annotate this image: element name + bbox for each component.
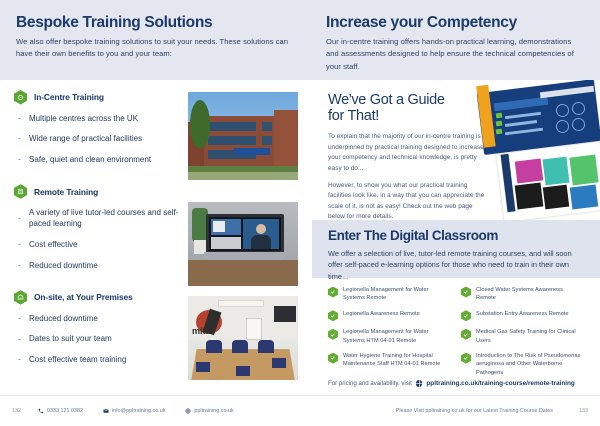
course-column-left: Legionella Management for Water Systems … (328, 286, 451, 384)
course-name: Substation Entry Awareness Remote (476, 310, 569, 318)
list-item: - Cost effective team training (16, 354, 181, 366)
page-number-right: 133 (579, 408, 588, 414)
list-item[interactable]: Legionella Management for Water Systems … (328, 328, 451, 345)
bespoke-body: We also offer bespoke training solutions… (16, 36, 294, 61)
list-item[interactable]: Medical Gas Safety Training for Clinical… (461, 328, 584, 345)
course-name: Closed Water Systems Awareness Remote (476, 286, 584, 303)
footer-website[interactable]: ppltraining.co.uk (185, 408, 233, 414)
course-name: Legionella Awareness Remote (343, 310, 420, 318)
pricing-note-link[interactable]: ppltraining.co.uk/training-course/remote… (426, 380, 574, 387)
email-text: info@ppltraining.co.uk (112, 408, 165, 414)
check-hex-icon (328, 353, 338, 364)
check-hex-icon (328, 287, 338, 298)
remote-course-list: Legionella Management for Water Systems … (312, 278, 600, 384)
guide-block: We've Got a Guide for That! To explain t… (312, 80, 600, 220)
dash-icon: - (16, 261, 23, 270)
list-item: - A variety of live tutor-led courses an… (16, 207, 181, 230)
footer-note: Please Visit ppltraining.co.uk for our L… (396, 408, 553, 414)
left-column: In-Centre Training - Multiple centres ac… (0, 80, 312, 395)
footer-email[interactable]: info@ppltraining.co.uk (103, 408, 165, 414)
list-item: - Reduced downtime (16, 260, 181, 272)
bullet-text: Cost effective team training (29, 354, 126, 366)
onsite-hex-icon (14, 290, 27, 305)
dash-icon: - (16, 335, 23, 344)
bullet-text: Reduced downtime (29, 260, 98, 272)
phone-icon (38, 408, 44, 414)
course-name: Legionella Management for Water Systems … (343, 328, 451, 345)
bullet-text: Dates to suit your team (29, 333, 112, 345)
header-band: Bespoke Training Solutions We also offer… (0, 0, 600, 80)
section-title: On-site, at Your Premises (34, 292, 133, 302)
dash-icon: - (16, 114, 23, 123)
list-item: - Wide range of practical facilities (16, 133, 181, 145)
phone-text: 0333 121 0382 (47, 408, 83, 414)
course-name: Water Hygiene Training for Hospital Main… (343, 352, 451, 369)
guide-paragraph-1: To explain that the majority of our in-c… (328, 132, 486, 174)
course-name: Medical Gas Safety Training for Clinical… (476, 328, 584, 345)
footer-bar: 132 0333 121 0382 info@ppltraining.co.uk… (0, 395, 600, 426)
check-hex-icon (461, 353, 471, 364)
course-column-right: Closed Water Systems Awareness Remote Su… (461, 286, 584, 384)
guide-title-line2: for That! (328, 108, 379, 124)
mail-icon (103, 408, 109, 414)
dash-icon: - (16, 155, 23, 164)
guide-paragraph-2: However, to show you what our practical … (328, 181, 486, 223)
pricing-note: For pricing and availability, visit pplt… (312, 380, 600, 387)
dash-icon: - (16, 214, 23, 223)
digital-classroom-panel: Enter The Digital Classroom We offer a s… (312, 220, 600, 278)
dash-icon: - (16, 240, 23, 249)
check-hex-icon (461, 310, 471, 321)
list-item: - Safe, quiet and clean environment (16, 154, 181, 166)
bespoke-heading: Bespoke Training Solutions (16, 14, 294, 31)
competency-body: Our in-centre training offers hands-on p… (326, 36, 584, 73)
list-item: - Multiple centres across the UK (16, 113, 181, 125)
bullet-text: Safe, quiet and clean environment (29, 154, 151, 166)
header-left-column: Bespoke Training Solutions We also offer… (0, 0, 310, 80)
right-column: We've Got a Guide for That! To explain t… (312, 80, 600, 395)
remote-laptop-photo (188, 202, 298, 286)
onsite-meeting-room-photo: mitie (188, 296, 298, 380)
competency-heading: Increase your Competency (326, 14, 584, 31)
pocket-guide-brochure-image (472, 80, 600, 230)
list-item[interactable]: Legionella Awareness Remote (328, 310, 451, 322)
list-item[interactable]: Introduction to The Risk of Pseudomonas … (461, 352, 584, 377)
pricing-note-prefix: For pricing and availability, visit (328, 380, 412, 387)
globe-icon (416, 380, 423, 387)
brochure-page: Bespoke Training Solutions We also offer… (0, 0, 600, 425)
bullet-text: Reduced downtime (29, 313, 98, 325)
section-title: In-Centre Training (34, 92, 104, 102)
footer-right: Please Visit ppltraining.co.uk for our L… (300, 408, 600, 414)
list-item: - Dates to suit your team (16, 333, 181, 345)
centre-hex-icon (14, 90, 27, 105)
list-item[interactable]: Legionella Management for Water Systems … (328, 286, 451, 303)
training-centre-photo (188, 92, 298, 180)
list-item[interactable]: Water Hygiene Training for Hospital Main… (328, 352, 451, 369)
footer-left: 132 0333 121 0382 info@ppltraining.co.uk… (0, 408, 300, 414)
bullet-text: A variety of live tutor-led courses and … (29, 207, 181, 230)
check-hex-icon (461, 329, 471, 340)
bullet-text: Cost effective (29, 239, 78, 251)
check-hex-icon (461, 287, 471, 298)
list-item: - Reduced downtime (16, 313, 181, 325)
footer-phone[interactable]: 0333 121 0382 (38, 408, 83, 414)
dash-icon: - (16, 134, 23, 143)
remote-hex-icon (14, 184, 27, 199)
course-name: Introduction to The Risk of Pseudomonas … (476, 352, 584, 377)
section-header: Remote Training (14, 184, 312, 199)
website-text: ppltraining.co.uk (194, 408, 233, 414)
check-hex-icon (328, 329, 338, 340)
check-hex-icon (328, 310, 338, 321)
list-item[interactable]: Closed Water Systems Awareness Remote (461, 286, 584, 303)
guide-title-line1: We've Got a Guide (328, 92, 445, 108)
bullet-text: Wide range of practical facilities (29, 133, 142, 145)
section-title: Remote Training (34, 187, 98, 197)
dash-icon: - (16, 314, 23, 323)
globe-icon (185, 408, 191, 414)
header-right-column: Increase your Competency Our in-centre t… (310, 0, 600, 80)
list-item: - Cost effective (16, 239, 181, 251)
course-name: Legionella Management for Water Systems … (343, 286, 451, 303)
bullet-text: Multiple centres across the UK (29, 113, 138, 125)
list-item[interactable]: Substation Entry Awareness Remote (461, 310, 584, 322)
dash-icon: - (16, 355, 23, 364)
page-number-left: 132 (12, 408, 38, 414)
digital-classroom-title: Enter The Digital Classroom (328, 229, 586, 244)
